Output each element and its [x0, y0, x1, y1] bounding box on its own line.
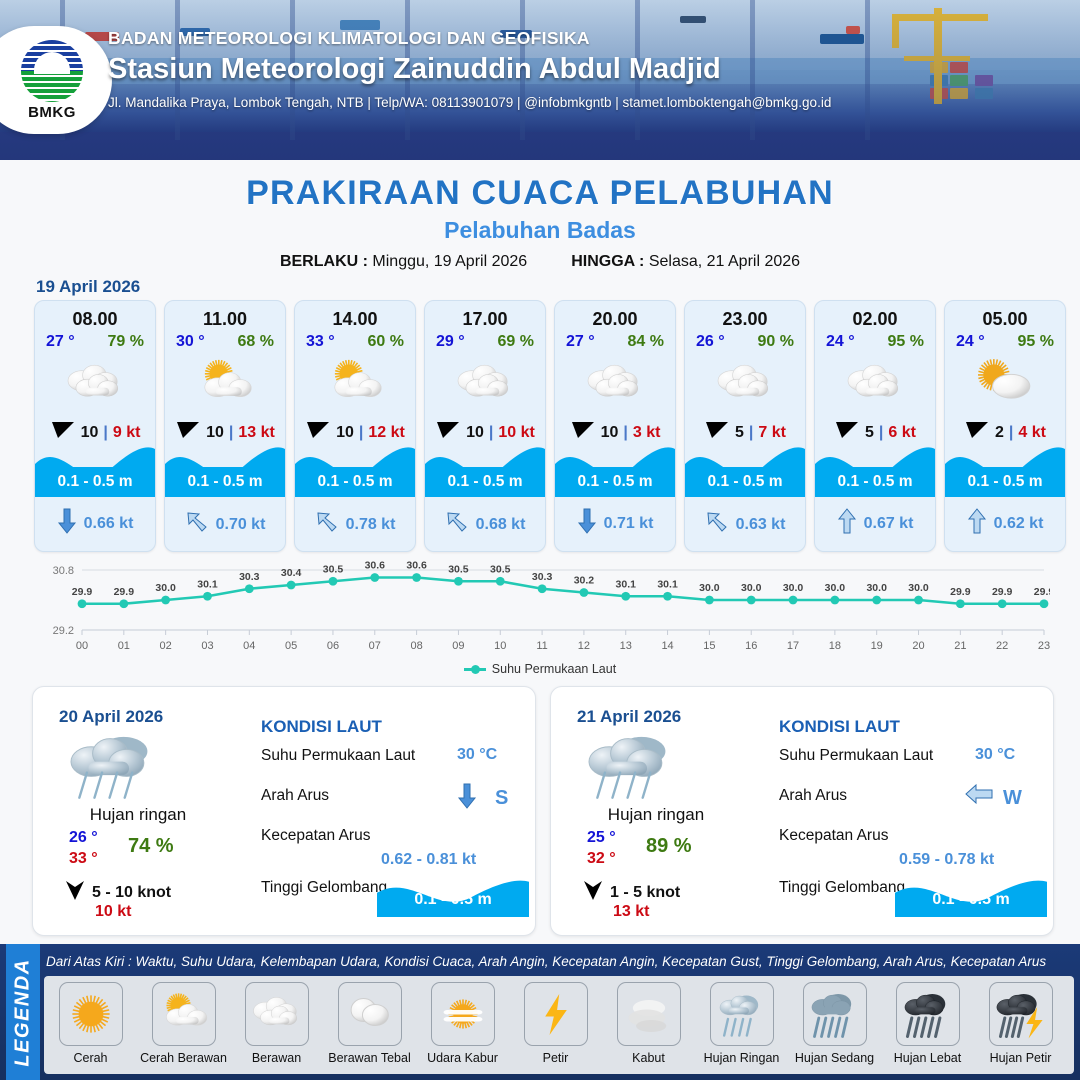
svg-text:30.1: 30.1	[657, 578, 678, 590]
legend-icon-box	[803, 982, 867, 1046]
legend-item: Hujan Lebat	[881, 976, 974, 1065]
card-current-speed: 0.67 kt	[864, 515, 914, 533]
card-wave-label-bar: 0.1 - 0.5 m	[425, 467, 545, 497]
valid-from-label: BERLAKU :	[280, 253, 368, 270]
daily-humidity: 89 %	[646, 835, 692, 858]
daily-wind-row: 1 - 5 knot	[583, 879, 680, 906]
valid-to-value: Selasa, 21 April 2026	[649, 253, 800, 270]
legend-item: Hujan Ringan	[695, 976, 788, 1065]
card-humidity: 84 %	[628, 333, 664, 351]
svg-text:00: 00	[76, 640, 88, 652]
legend-item-label: Petir	[543, 1051, 569, 1065]
card-wave-label-bar: 0.1 - 0.5 m	[165, 467, 285, 497]
daily-temp-max: 33 °	[69, 850, 98, 868]
card-weather-icon	[35, 353, 155, 413]
svg-text:13: 13	[620, 640, 632, 652]
svg-text:30.0: 30.0	[825, 582, 846, 594]
svg-text:14: 14	[661, 640, 673, 652]
daily-condition: Hujan ringan	[561, 805, 751, 825]
svg-text:30.6: 30.6	[365, 560, 386, 572]
card-weather-icon	[555, 353, 675, 413]
svg-text:29.9: 29.9	[72, 586, 93, 598]
card-current-speed: 0.71 kt	[604, 515, 654, 533]
card-time: 02.00	[815, 309, 935, 330]
card-humidity: 90 %	[758, 333, 794, 351]
card-current-speed: 0.78 kt	[346, 516, 396, 534]
daily-wind-range: 5 - 10 knot	[92, 884, 171, 902]
legend-item: Berawan	[230, 976, 323, 1065]
card-temperature: 27 °	[46, 333, 75, 351]
legend-item: Hujan Petir	[974, 976, 1067, 1065]
card-wave-height: 0.1 - 0.5 m	[708, 473, 783, 491]
card-current-speed: 0.70 kt	[216, 516, 266, 534]
svg-text:30.0: 30.0	[741, 582, 762, 594]
header-text-block: BADAN METEOROLOGI KLIMATOLOGI DAN GEOFIS…	[108, 28, 831, 110]
legend-item: Petir	[509, 976, 602, 1065]
svg-text:30.3: 30.3	[532, 571, 553, 583]
card-humidity: 79 %	[108, 333, 144, 351]
daily-forecast-row: 20 April 2026 Hujan ringan 26 ° 33 ° 74 …	[32, 686, 1054, 936]
legend-item: Udara Kabur	[416, 976, 509, 1065]
daily-wave-height: 0.1 - 0.5 m	[895, 891, 1047, 909]
svg-text:30.1: 30.1	[616, 578, 637, 590]
svg-text:07: 07	[369, 640, 381, 652]
card-wave-height: 0.1 - 0.5 m	[578, 473, 653, 491]
svg-text:30.4: 30.4	[281, 567, 302, 579]
svg-text:01: 01	[118, 640, 130, 652]
wave-height-label: Tinggi Gelombang	[261, 879, 387, 897]
svg-text:16: 16	[745, 640, 757, 652]
daily-humidity: 74 %	[128, 835, 174, 858]
card-current-speed: 0.66 kt	[84, 515, 134, 533]
card-temperature: 24 °	[826, 333, 855, 351]
card-current-row: 0.62 kt	[945, 508, 1065, 539]
svg-text:29.9: 29.9	[950, 586, 971, 598]
daily-panel: 21 April 2026 Hujan ringan 25 ° 32 ° 89 …	[550, 686, 1054, 936]
legend-item-label: Berawan Tebal	[328, 1051, 410, 1065]
current-speed-label: Kecepatan Arus	[779, 827, 888, 845]
valid-to-label: HINGGA :	[571, 253, 644, 270]
svg-text:30.8: 30.8	[53, 565, 74, 577]
card-humidity: 69 %	[498, 333, 534, 351]
legend-item-label: Berawan	[252, 1051, 301, 1065]
legend-item: Berawan Tebal	[323, 976, 416, 1065]
current-direction-arrow-icon	[837, 508, 857, 539]
card-current-row: 0.71 kt	[555, 508, 675, 539]
card-wave-height: 0.1 - 0.5 m	[58, 473, 133, 491]
bmkg-logo: BMKG	[0, 26, 112, 134]
current-direction-arrow-icon	[967, 508, 987, 539]
legend-icon-box	[989, 982, 1053, 1046]
card-time: 08.00	[35, 309, 155, 330]
card-current-speed: 0.68 kt	[476, 516, 526, 534]
legend-item-label: Hujan Sedang	[795, 1051, 874, 1065]
card-wave-height: 0.1 - 0.5 m	[968, 473, 1043, 491]
daily-gust: 10 kt	[95, 903, 131, 921]
legend-side-tab: LEGENDA	[6, 944, 40, 1080]
current-speed-value: 0.62 - 0.81 kt	[381, 851, 476, 869]
card-weather-icon	[295, 353, 415, 413]
station-name: Stasiun Meteorologi Zainuddin Abdul Madj…	[108, 53, 831, 86]
legend-item-label: Cerah Berawan	[140, 1051, 227, 1065]
card-temp-hum-row: 33 ° 60 %	[295, 330, 415, 351]
hourly-date-label: 19 April 2026	[36, 277, 140, 297]
wave-height-label: Tinggi Gelombang	[779, 879, 905, 897]
daily-condition: Hujan ringan	[43, 805, 233, 825]
card-temp-hum-row: 30 ° 68 %	[165, 330, 285, 351]
svg-text:19: 19	[871, 640, 883, 652]
svg-text:11: 11	[536, 640, 547, 652]
svg-text:30.1: 30.1	[197, 578, 218, 590]
card-temp-hum-row: 27 ° 84 %	[555, 330, 675, 351]
svg-text:02: 02	[160, 640, 172, 652]
svg-text:30.0: 30.0	[155, 582, 176, 594]
current-direction-arrow-icon	[185, 510, 209, 539]
card-current-speed: 0.62 kt	[994, 515, 1044, 533]
legend-item-label: Udara Kabur	[427, 1051, 498, 1065]
current-direction-value: S	[495, 787, 508, 810]
hourly-card: 17.00 29 ° 69 % 10 | 10 kt	[424, 300, 546, 552]
title-block: PRAKIRAAN CUACA PELABUHAN Pelabuhan Bada…	[0, 174, 1080, 271]
svg-text:10: 10	[494, 640, 506, 652]
card-wave-label-bar: 0.1 - 0.5 m	[295, 467, 415, 497]
daily-temp-min: 26 °	[69, 829, 98, 847]
legend-icon-box	[896, 982, 960, 1046]
daily-date: 20 April 2026	[59, 707, 163, 727]
svg-text:30.3: 30.3	[239, 571, 260, 583]
card-weather-icon	[945, 353, 1065, 413]
legend-icon-box	[152, 982, 216, 1046]
sst-label: Suhu Permukaan Laut	[779, 747, 933, 765]
daily-wind-range: 1 - 5 knot	[610, 884, 680, 902]
valid-from-value: Minggu, 19 April 2026	[372, 253, 527, 270]
sst-chart: 30.829.200010203040506070809101112131415…	[30, 558, 1050, 678]
card-time: 05.00	[945, 309, 1065, 330]
card-current-row: 0.70 kt	[165, 510, 285, 539]
card-wave-height: 0.1 - 0.5 m	[448, 473, 523, 491]
current-direction-arrow-icon	[705, 510, 729, 539]
bmkg-emblem-icon	[21, 40, 83, 102]
infographic-page: BMKG BADAN METEOROLOGI KLIMATOLOGI DAN G…	[0, 0, 1080, 1080]
legend-item: Kabut	[602, 976, 695, 1065]
sea-condition-title: KONDISI LAUT	[261, 717, 382, 737]
legend-icon-box	[59, 982, 123, 1046]
sst-chart-svg: 30.829.200010203040506070809101112131415…	[30, 558, 1050, 658]
svg-text:30.5: 30.5	[448, 563, 469, 575]
svg-text:29.9: 29.9	[992, 586, 1013, 598]
svg-text:29.2: 29.2	[53, 625, 74, 637]
sea-condition-title: KONDISI LAUT	[779, 717, 900, 737]
daily-current-arrow-icon	[965, 783, 993, 810]
page-header: BMKG BADAN METEOROLOGI KLIMATOLOGI DAN G…	[0, 0, 1080, 160]
legend-item: Hujan Sedang	[788, 976, 881, 1065]
svg-text:23: 23	[1038, 640, 1050, 652]
card-temp-hum-row: 29 ° 69 %	[425, 330, 545, 351]
legend-item: Cerah	[44, 976, 137, 1065]
card-humidity: 95 %	[888, 333, 924, 351]
sst-value: 30 °C	[457, 746, 497, 764]
card-wave-label-bar: 0.1 - 0.5 m	[815, 467, 935, 497]
daily-wave-graphic: 0.1 - 0.5 m	[895, 873, 1047, 917]
svg-text:20: 20	[912, 640, 924, 652]
hourly-card: 23.00 26 ° 90 % 5 | 7 kt	[684, 300, 806, 552]
current-direction-arrow-icon	[577, 508, 597, 539]
current-direction-arrow-icon	[57, 508, 77, 539]
svg-text:30.0: 30.0	[908, 582, 929, 594]
legend-item-label: Kabut	[632, 1051, 665, 1065]
legend-item-label: Hujan Ringan	[704, 1051, 780, 1065]
card-weather-icon	[815, 353, 935, 413]
card-humidity: 95 %	[1018, 333, 1054, 351]
legend-note: Dari Atas Kiri : Waktu, Suhu Udara, Kele…	[46, 954, 1046, 969]
current-direction-value: W	[1003, 787, 1022, 810]
card-temperature: 27 °	[566, 333, 595, 351]
svg-text:30.6: 30.6	[406, 560, 427, 572]
card-current-row: 0.66 kt	[35, 508, 155, 539]
card-temp-hum-row: 24 ° 95 %	[815, 330, 935, 351]
hourly-card: 20.00 27 ° 84 % 10 | 3 kt	[554, 300, 676, 552]
svg-text:06: 06	[327, 640, 339, 652]
sst-label: Suhu Permukaan Laut	[261, 747, 415, 765]
sst-value: 30 °C	[975, 746, 1015, 764]
agency-name: BADAN METEOROLOGI KLIMATOLOGI DAN GEOFIS…	[108, 28, 831, 49]
card-time: 23.00	[685, 309, 805, 330]
daily-panel: 20 April 2026 Hujan ringan 26 ° 33 ° 74 …	[32, 686, 536, 936]
card-current-row: 0.63 kt	[685, 510, 805, 539]
legend-item-label: Hujan Petir	[990, 1051, 1052, 1065]
card-temperature: 24 °	[956, 333, 985, 351]
chart-legend-marker	[464, 668, 486, 671]
card-current-row: 0.78 kt	[295, 510, 415, 539]
legend-icon-box	[710, 982, 774, 1046]
card-temperature: 33 °	[306, 333, 335, 351]
svg-text:29.9: 29.9	[114, 586, 135, 598]
daily-wind-arrow-icon	[583, 879, 603, 906]
svg-text:04: 04	[243, 640, 255, 652]
daily-temp-max: 32 °	[587, 850, 616, 868]
card-current-row: 0.68 kt	[425, 510, 545, 539]
legend-items-strip: Cerah Cerah Berawan Bera	[44, 976, 1074, 1074]
card-wave-height: 0.1 - 0.5 m	[838, 473, 913, 491]
card-temp-hum-row: 27 ° 79 %	[35, 330, 155, 351]
svg-text:30.5: 30.5	[490, 563, 511, 575]
hourly-forecast-row: 08.00 27 ° 79 % 10 | 9 kt	[34, 300, 1066, 552]
current-speed-value: 0.59 - 0.78 kt	[899, 851, 994, 869]
card-wave-height: 0.1 - 0.5 m	[318, 473, 393, 491]
daily-date: 21 April 2026	[577, 707, 681, 727]
hourly-card: 02.00 24 ° 95 % 5 | 6 kt	[814, 300, 936, 552]
legend-item-label: Hujan Lebat	[894, 1051, 961, 1065]
svg-text:12: 12	[578, 640, 590, 652]
current-speed-label: Kecepatan Arus	[261, 827, 370, 845]
svg-text:17: 17	[787, 640, 799, 652]
card-current-row: 0.67 kt	[815, 508, 935, 539]
daily-wind-row: 5 - 10 knot	[65, 879, 171, 906]
svg-text:22: 22	[996, 640, 1008, 652]
card-wave-label-bar: 0.1 - 0.5 m	[555, 467, 675, 497]
card-humidity: 60 %	[368, 333, 404, 351]
daily-wave-graphic: 0.1 - 0.5 m	[377, 873, 529, 917]
current-direction-arrow-icon	[315, 510, 339, 539]
chart-legend: Suhu Permukaan Laut	[30, 662, 1050, 676]
svg-text:30.5: 30.5	[323, 563, 344, 575]
card-temp-hum-row: 26 ° 90 %	[685, 330, 805, 351]
card-current-speed: 0.63 kt	[736, 516, 786, 534]
card-time: 11.00	[165, 309, 285, 330]
svg-text:30.0: 30.0	[783, 582, 804, 594]
card-time: 17.00	[425, 309, 545, 330]
card-temperature: 29 °	[436, 333, 465, 351]
card-wave-label-bar: 0.1 - 0.5 m	[945, 467, 1065, 497]
svg-text:29.9: 29.9	[1034, 586, 1050, 598]
daily-wave-height: 0.1 - 0.5 m	[377, 891, 529, 909]
svg-text:05: 05	[285, 640, 297, 652]
page-title: PRAKIRAAN CUACA PELABUHAN	[0, 174, 1080, 213]
legend-icon-box	[245, 982, 309, 1046]
current-direction-arrow-icon	[445, 510, 469, 539]
svg-text:30.2: 30.2	[574, 575, 595, 587]
hourly-card: 11.00 30 ° 68 % 10 | 13 kt 0.1 - 0.5 m	[164, 300, 286, 552]
svg-text:18: 18	[829, 640, 841, 652]
svg-text:21: 21	[954, 640, 966, 652]
card-temp-hum-row: 24 ° 95 %	[945, 330, 1065, 351]
legend-section: LEGENDA Dari Atas Kiri : Waktu, Suhu Uda…	[0, 944, 1080, 1080]
daily-temp-min: 25 °	[587, 829, 616, 847]
card-temperature: 30 °	[176, 333, 205, 351]
legend-item: Cerah Berawan	[137, 976, 230, 1065]
card-time: 14.00	[295, 309, 415, 330]
legend-icon-box	[431, 982, 495, 1046]
contact-line: Jl. Mandalika Praya, Lombok Tengah, NTB …	[108, 95, 831, 110]
chart-legend-label: Suhu Permukaan Laut	[492, 662, 616, 676]
svg-text:03: 03	[201, 640, 213, 652]
card-temperature: 26 °	[696, 333, 725, 351]
card-weather-icon	[425, 353, 545, 413]
svg-text:30.0: 30.0	[866, 582, 887, 594]
validity-row: BERLAKU : Minggu, 19 April 2026 HINGGA :…	[0, 253, 1080, 271]
bmkg-logo-label: BMKG	[28, 104, 76, 121]
card-weather-icon	[165, 353, 285, 413]
current-direction-label: Arah Arus	[779, 787, 847, 805]
hourly-card: 05.00 24 ° 95 % 2 | 4 kt 0.1 - 0.5 m 0.6	[944, 300, 1066, 552]
legend-item-label: Cerah	[73, 1051, 107, 1065]
hourly-card: 14.00 33 ° 60 % 10 | 12 kt 0.1 - 0.5 m	[294, 300, 416, 552]
svg-text:08: 08	[410, 640, 422, 652]
legend-icon-box	[524, 982, 588, 1046]
current-direction-label: Arah Arus	[261, 787, 329, 805]
card-humidity: 68 %	[238, 333, 274, 351]
card-weather-icon	[685, 353, 805, 413]
daily-gust: 13 kt	[613, 903, 649, 921]
svg-text:09: 09	[452, 640, 464, 652]
daily-weather-icon	[61, 727, 171, 805]
daily-weather-icon	[579, 727, 689, 805]
legend-side-label: LEGENDA	[12, 958, 35, 1066]
legend-icon-box	[338, 982, 402, 1046]
legend-icon-box	[617, 982, 681, 1046]
daily-wind-arrow-icon	[65, 879, 85, 906]
page-subtitle: Pelabuhan Badas	[0, 217, 1080, 244]
hourly-card: 08.00 27 ° 79 % 10 | 9 kt	[34, 300, 156, 552]
card-wave-label-bar: 0.1 - 0.5 m	[685, 467, 805, 497]
svg-text:30.0: 30.0	[699, 582, 720, 594]
card-wave-height: 0.1 - 0.5 m	[188, 473, 263, 491]
card-wave-label-bar: 0.1 - 0.5 m	[35, 467, 155, 497]
daily-current-arrow-icon	[457, 783, 477, 814]
card-time: 20.00	[555, 309, 675, 330]
svg-text:15: 15	[703, 640, 715, 652]
